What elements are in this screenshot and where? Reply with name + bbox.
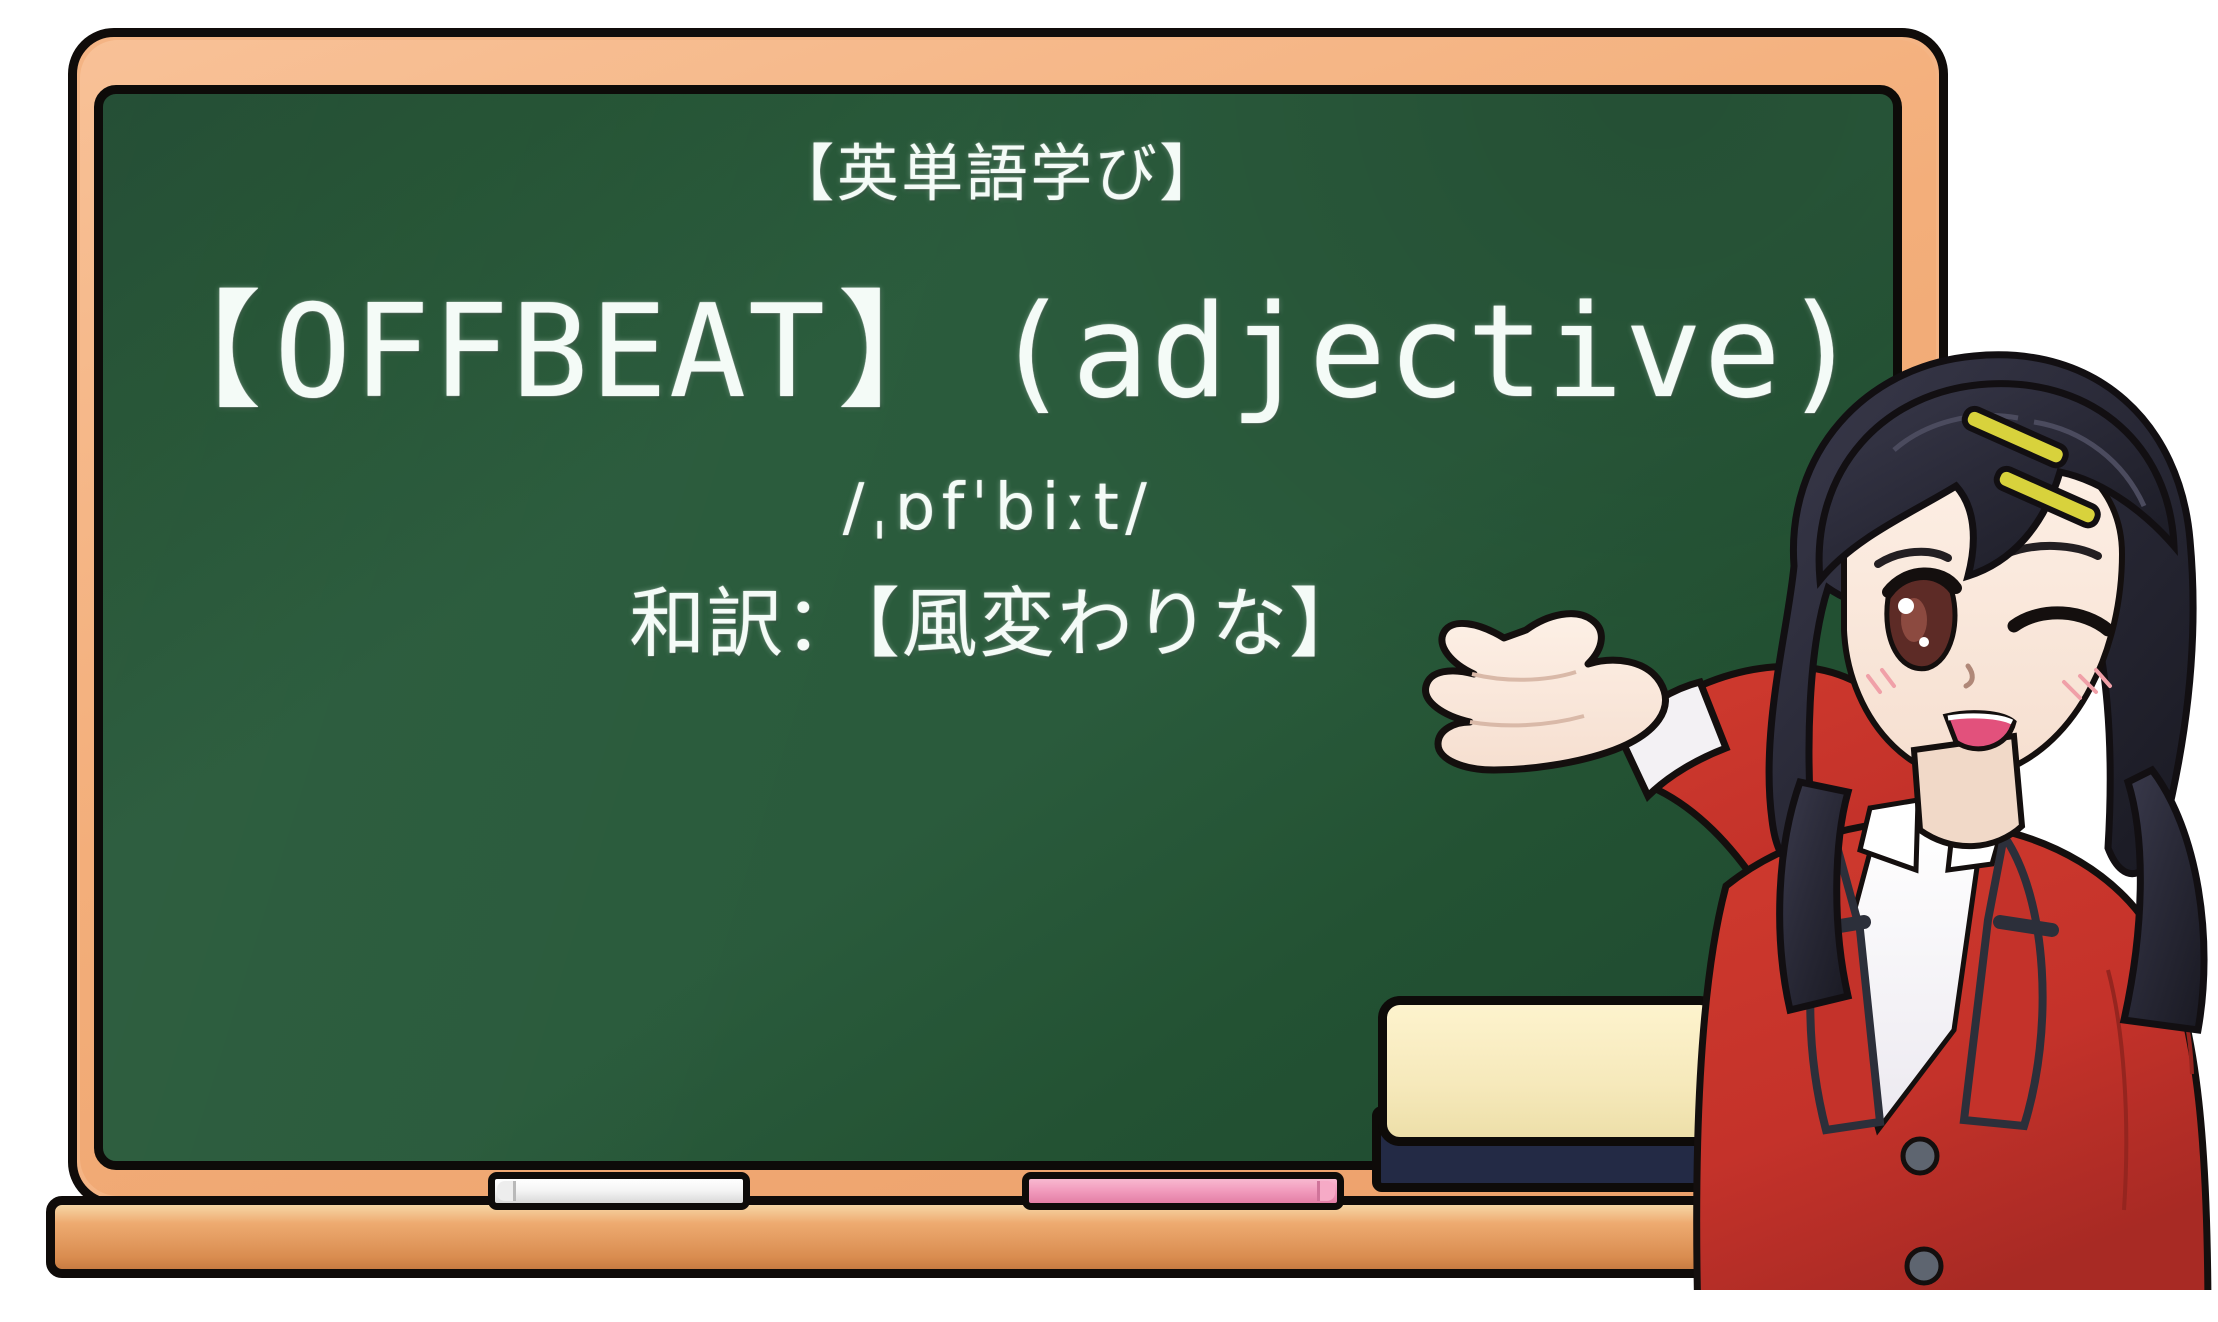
blush-right: [2064, 670, 2110, 698]
page-bottom-band: [0, 1290, 2218, 1322]
ipa-pronunciation: /ˌɒfˈbiːt/: [843, 472, 1154, 546]
blazer-seam-right: [2108, 970, 2126, 1210]
headword-line: 【 OFFBEAT 】 (adjective): [134, 279, 1862, 426]
pink-chalk-stick: [1022, 1172, 1344, 1210]
headword-bracket-close: 】: [837, 279, 967, 426]
nose: [1966, 666, 1972, 686]
page-root: 【英単語学び】 【 OFFBEAT 】 (adjective) /ˌɒfˈbiː…: [0, 0, 2218, 1322]
white-chalk-stick: [488, 1172, 750, 1210]
japanese-translation: 和訳：【風変わりな】: [629, 580, 1366, 667]
blackboard-eraser: [1372, 996, 1728, 1192]
headword-word: OFFBEAT: [264, 279, 837, 426]
hair-highlight-2: [2034, 422, 2144, 506]
eye-wink: [2014, 613, 2108, 630]
teeth: [1948, 716, 2012, 722]
mouth: [1946, 713, 2014, 749]
hairclip-icon: [1962, 406, 2101, 528]
part-of-speech: (adjective): [967, 279, 1862, 426]
eyebrow-right: [2006, 546, 2098, 556]
lesson-title: 【英単語学び】: [772, 138, 1223, 209]
blazer-lapel-right: [1964, 836, 2043, 1126]
headword-bracket-open: 【: [134, 279, 264, 426]
blazer-seam-shoulder: [2150, 942, 2192, 1074]
hair-side-tail-right: [2124, 770, 2204, 1030]
shirt-collar-right: [1948, 798, 2008, 870]
chalk-tray: [46, 1196, 1966, 1278]
lapel-notch-right: [2000, 922, 2052, 930]
eraser-felt: [1378, 996, 1722, 1146]
